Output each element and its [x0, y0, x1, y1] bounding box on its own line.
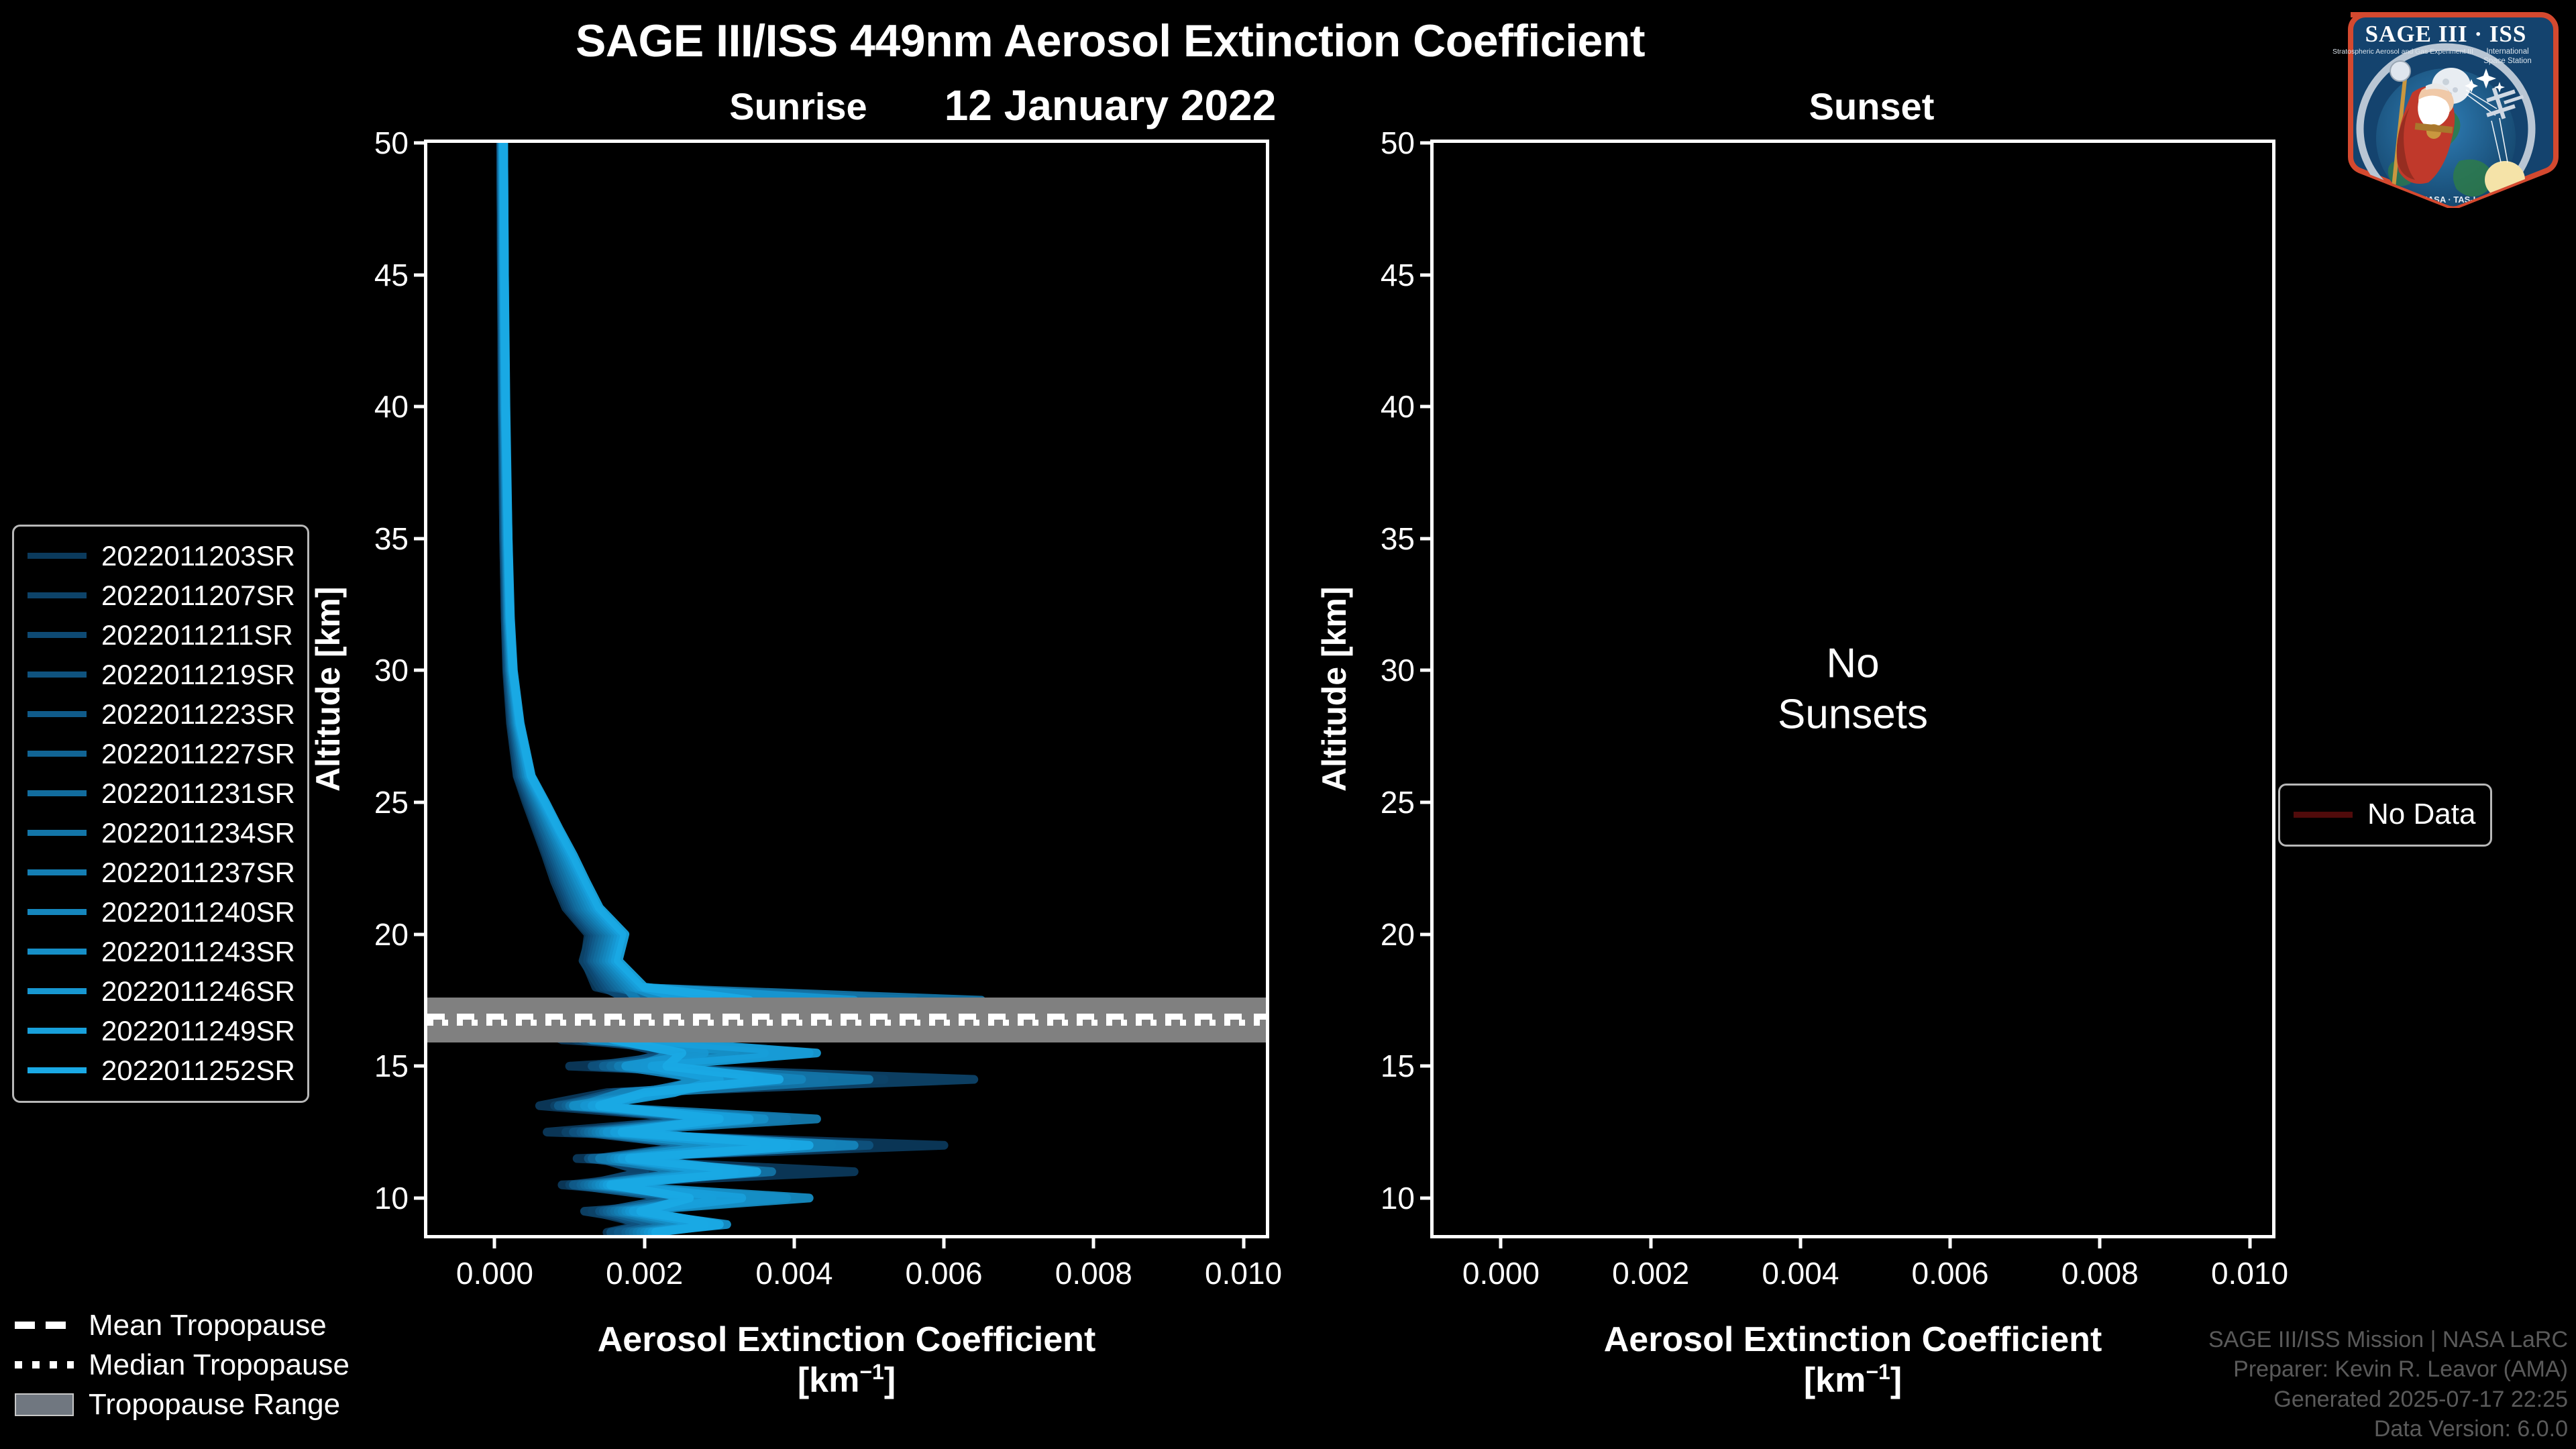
legend-item[interactable]: 2022011223SR: [28, 694, 295, 734]
x-tick-mark: [792, 1235, 796, 1248]
y-tick-mark: [414, 273, 427, 276]
legend-event-label: 2022011211SR: [101, 619, 293, 651]
sunrise-x-axis-unit: [km−1]: [424, 1360, 1269, 1401]
legend-item[interactable]: 2022011207SR: [28, 576, 295, 615]
legend-item[interactable]: 2022011211SR: [28, 615, 295, 655]
sage-iii-iss-mission-patch-logo: BALL · NASA · TAS-I · ESA SAGE III · ISS…: [2328, 7, 2564, 208]
y-tick-mark: [1420, 1196, 1434, 1199]
no-data-label: No Data: [2367, 798, 2475, 831]
sunrise-x-axis-label: Aerosol Extinction Coefficient [km−1]: [424, 1320, 1269, 1401]
legend-item[interactable]: 2022011243SR: [28, 932, 295, 971]
figure-canvas: SAGE III/ISS 449nm Aerosol Extinction Co…: [0, 0, 2576, 1449]
legend-event-label: 2022011223SR: [101, 698, 295, 731]
legend-event-label: 2022011219SR: [101, 659, 295, 691]
y-tick-mark: [414, 1196, 427, 1199]
legend-item[interactable]: 2022011234SR: [28, 813, 295, 853]
sunrise-plot-area: 504540353025201510 0.0000.0020.0040.0060…: [424, 140, 1269, 1238]
tropopause-key-item: Tropopause Range: [15, 1385, 350, 1424]
legend-event-label: 2022011240SR: [101, 896, 295, 928]
sunrise-plot-clip: [427, 143, 1266, 1235]
logo-subtitle-left-text: Stratospheric Aerosol and Gas Experiment…: [2332, 48, 2473, 56]
sunrise-legend[interactable]: 2022011203SR2022011207SR2022011211SR2022…: [12, 525, 309, 1103]
y-tick-mark: [414, 1065, 427, 1068]
legend-item[interactable]: 2022011227SR: [28, 734, 295, 773]
y-tick-mark: [1420, 932, 1434, 936]
legend-item[interactable]: 2022011231SR: [28, 773, 295, 813]
legend-event-label: 2022011246SR: [101, 975, 295, 1008]
sunset-plot-area: No Sunsets 504540353025201510 0.0000.002…: [1430, 140, 2275, 1238]
x-tick-mark: [1949, 1235, 1952, 1248]
x-tick-mark: [1242, 1235, 1245, 1248]
sunset-legend[interactable]: No Data: [2278, 784, 2492, 847]
legend-item[interactable]: 2022011252SR: [28, 1051, 295, 1090]
sunrise-x-axis-label-text: Aerosol Extinction Coefficient: [424, 1320, 1269, 1360]
y-tick-mark: [1420, 142, 1434, 145]
mean-tropopause-line: [427, 1014, 1266, 1020]
legend-event-label: 2022011207SR: [101, 580, 295, 612]
tropopause-key-item: Mean Tropopause: [15, 1305, 350, 1345]
x-tick-mark: [943, 1235, 946, 1248]
legend-color-swatch: [28, 672, 87, 678]
x-tick-mark: [643, 1235, 646, 1248]
legend-color-swatch: [28, 949, 87, 955]
legend-event-label: 2022011249SR: [101, 1015, 295, 1047]
legend-color-swatch: [28, 592, 87, 598]
tropopause-key-label: Median Tropopause: [89, 1348, 350, 1382]
legend-item[interactable]: 2022011246SR: [28, 971, 295, 1011]
legend-event-label: 2022011252SR: [101, 1055, 295, 1087]
legend-color-swatch: [28, 869, 87, 875]
tropopause-key-label: Mean Tropopause: [89, 1309, 327, 1342]
tropopause-key-item: Median Tropopause: [15, 1345, 350, 1385]
legend-color-swatch: [28, 1067, 87, 1073]
x-tick-mark: [1799, 1235, 1802, 1248]
sunset-x-axis-unit: [km−1]: [1430, 1360, 2275, 1401]
x-tick-mark: [1092, 1235, 1095, 1248]
legend-item[interactable]: 2022011237SR: [28, 853, 295, 892]
median-tropopause-line: [427, 1020, 1266, 1026]
legend-color-swatch: [28, 1028, 87, 1034]
y-tick-mark: [1420, 273, 1434, 276]
y-tick-mark: [414, 669, 427, 672]
legend-event-label: 2022011243SR: [101, 936, 295, 968]
tropopause-range-swatch: [15, 1393, 74, 1416]
y-tick-mark: [414, 801, 427, 804]
tropopause-key-label: Tropopause Range: [89, 1388, 340, 1421]
legend-color-swatch: [28, 909, 87, 915]
footer-credits: SAGE III/ISS Mission | NASA LaRC Prepare…: [2208, 1325, 2568, 1444]
legend-color-swatch: [28, 790, 87, 796]
legend-event-label: 2022011234SR: [101, 817, 295, 849]
y-tick-mark: [414, 932, 427, 936]
legend-color-swatch: [28, 632, 87, 638]
logo-subtitle-right-line2: Space Station: [2483, 57, 2532, 65]
x-tick-mark: [493, 1235, 496, 1248]
tropopause-line-swatch: [15, 1322, 74, 1329]
legend-item[interactable]: 2022011203SR: [28, 536, 295, 576]
sunset-x-axis-label-text: Aerosol Extinction Coefficient: [1430, 1320, 2275, 1360]
y-tick-mark: [1420, 1065, 1434, 1068]
logo-title-text: SAGE III · ISS: [2365, 21, 2527, 47]
legend-event-label: 2022011203SR: [101, 540, 295, 572]
sunrise-panel-title: Sunrise: [590, 85, 1006, 128]
y-tick-mark: [414, 142, 427, 145]
no-data-swatch: [2294, 812, 2353, 818]
legend-color-swatch: [28, 830, 87, 836]
x-tick-mark: [1499, 1235, 1503, 1248]
legend-event-label: 2022011231SR: [101, 777, 295, 810]
legend-item[interactable]: 2022011219SR: [28, 655, 295, 694]
legend-event-label: 2022011227SR: [101, 738, 295, 770]
legend-item[interactable]: 2022011249SR: [28, 1011, 295, 1051]
y-tick-mark: [414, 405, 427, 409]
sunrise-y-axis-label: Altitude [km]: [309, 586, 347, 792]
tropopause-key: Mean TropopauseMedian TropopauseTropopau…: [15, 1305, 350, 1424]
legend-color-swatch: [28, 711, 87, 717]
logo-subtitle-right-line1: International: [2486, 48, 2528, 56]
x-tick-mark: [1649, 1235, 1652, 1248]
page-title: SAGE III/ISS 449nm Aerosol Extinction Co…: [0, 15, 2220, 67]
legend-event-label: 2022011237SR: [101, 857, 295, 889]
legend-color-swatch: [28, 988, 87, 994]
y-tick-mark: [1420, 405, 1434, 409]
sunset-x-axis-label: Aerosol Extinction Coefficient [km−1]: [1430, 1320, 2275, 1401]
x-tick-mark: [2248, 1235, 2251, 1248]
tropopause-line-swatch: [15, 1361, 74, 1368]
legend-item[interactable]: 2022011240SR: [28, 892, 295, 932]
sunrise-profile-curves: [427, 143, 1266, 1235]
y-tick-mark: [1420, 801, 1434, 804]
sunset-panel-title: Sunset: [1664, 85, 2080, 128]
y-tick-mark: [1420, 537, 1434, 540]
x-tick-mark: [2098, 1235, 2102, 1248]
no-sunsets-note: No Sunsets: [1434, 638, 2272, 739]
legend-color-swatch: [28, 751, 87, 757]
y-tick-mark: [1420, 669, 1434, 672]
y-tick-mark: [414, 537, 427, 540]
legend-item[interactable]: No Data: [2294, 795, 2475, 834]
sunset-y-axis-label: Altitude [km]: [1315, 586, 1354, 792]
sunset-plot-clip: No Sunsets: [1434, 143, 2272, 1235]
legend-color-swatch: [28, 553, 87, 559]
